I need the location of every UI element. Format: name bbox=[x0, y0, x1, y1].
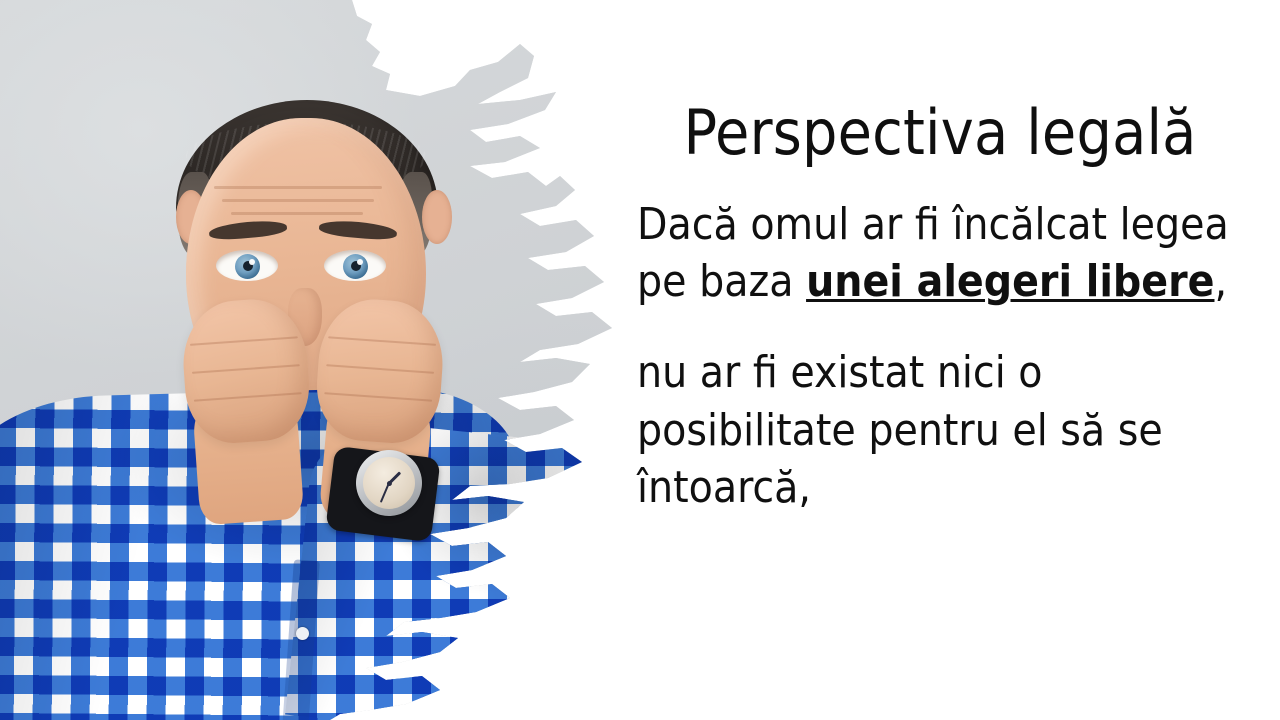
paragraph-1: Dacă omul ar fi încălcat legea pe baza u… bbox=[637, 196, 1265, 310]
slide-canvas: Perspectiva legală Dacă omul ar fi încăl… bbox=[0, 0, 1280, 720]
forehead-crease bbox=[231, 212, 363, 215]
eye-glint-left bbox=[249, 259, 255, 265]
knuckle-line bbox=[192, 364, 300, 374]
knuckle-line bbox=[328, 336, 436, 346]
knuckle-line bbox=[324, 392, 432, 402]
watch-minute-hand bbox=[380, 483, 390, 503]
knuckle-line bbox=[190, 336, 298, 346]
paragraph-1-trail: , bbox=[1214, 256, 1227, 307]
forehead-crease bbox=[214, 186, 382, 189]
eye-left bbox=[216, 250, 278, 281]
text-panel: Perspectiva legală Dacă omul ar fi încăl… bbox=[600, 0, 1280, 720]
shirt-button bbox=[296, 627, 309, 640]
eye-glint-right bbox=[357, 259, 363, 265]
forehead-crease bbox=[222, 199, 374, 202]
iris-left bbox=[235, 254, 260, 279]
iris-right bbox=[343, 254, 368, 279]
photo-backdrop bbox=[0, 0, 640, 720]
slide-title: Perspectiva legală bbox=[600, 100, 1280, 167]
hero-photo bbox=[0, 0, 640, 720]
watch-center-pin bbox=[386, 480, 392, 486]
body-text-block: Dacă omul ar fi încălcat legea pe baza u… bbox=[637, 196, 1265, 516]
paragraph-1-emphasis: unei alegeri libere bbox=[806, 256, 1214, 307]
watch-dial bbox=[360, 454, 418, 512]
knuckle-line bbox=[194, 392, 302, 402]
paragraph-2: nu ar fi existat nici o posibilitate pen… bbox=[637, 344, 1265, 516]
knuckle-line bbox=[326, 364, 434, 374]
ear-right bbox=[422, 190, 452, 244]
eye-right bbox=[324, 250, 386, 281]
